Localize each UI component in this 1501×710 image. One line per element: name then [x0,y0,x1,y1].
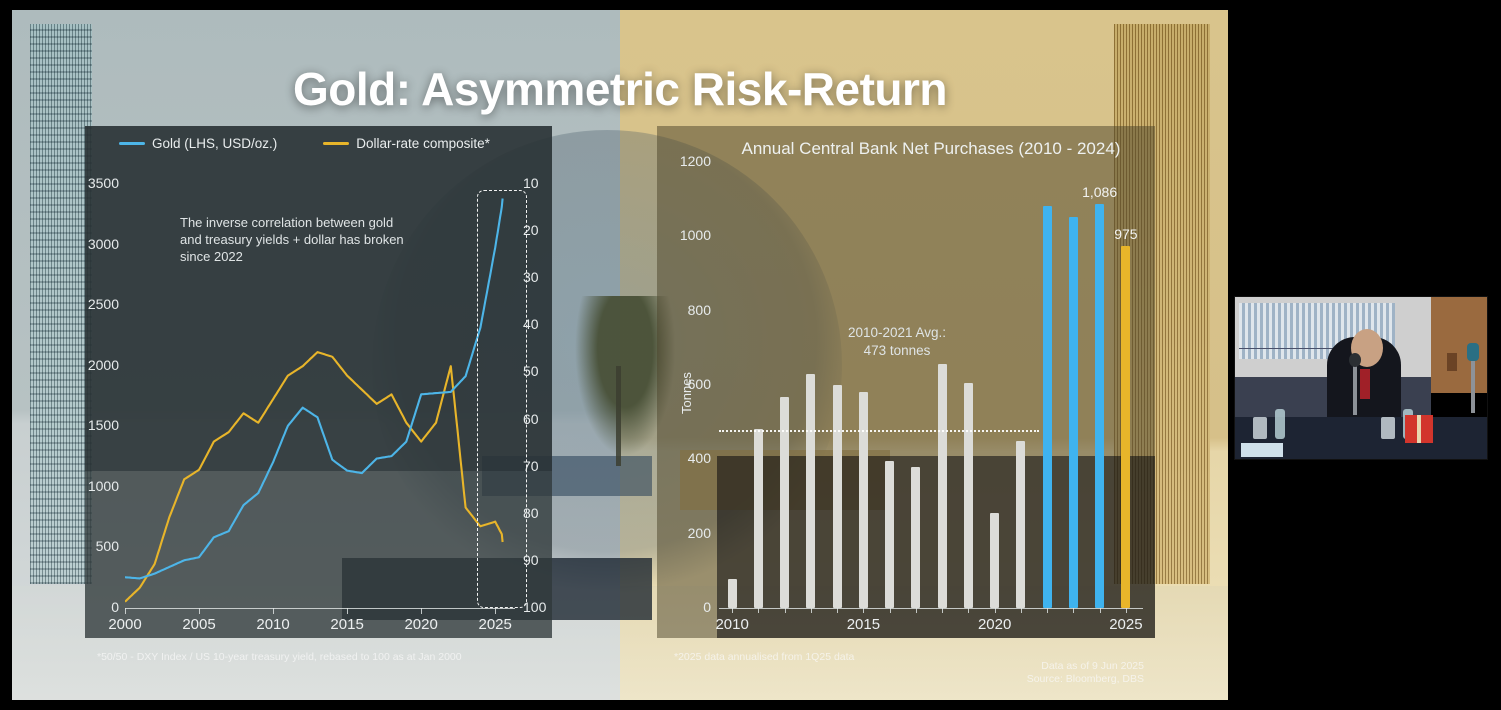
bar-2016[interactable] [885,461,894,608]
line-chart-svg [125,184,510,608]
y2-tick-50: 50 [523,363,551,379]
bar-y-tick-600: 600 [663,376,711,392]
legend-item-dollar: Dollar-rate composite* [323,136,490,151]
bar-x-tick-mark-2013 [811,608,812,613]
presentation-slide: Gold: Asymmetric Risk-Return Gold (LHS, … [12,10,1228,700]
microphone-icon [1353,363,1357,415]
bar-x-tick-mark-2016 [890,608,891,613]
avg-annotation-line2: 473 tonnes [817,342,977,360]
water-bottle-left [1275,409,1285,439]
x-tick-2020: 2020 [391,616,451,633]
bar-chart-x-axis [719,608,1143,609]
webcam-door-handle [1447,353,1457,371]
line-chart-legend: Gold (LHS, USD/oz.) Dollar-rate composit… [119,136,490,151]
y-tick-3500: 3500 [85,175,119,191]
bar-x-tick-mark-2017 [916,608,917,613]
bar-2023[interactable] [1069,217,1078,608]
bar-x-tick-mark-2024 [1100,608,1101,613]
bar-chart-panel: Annual Central Bank Net Purchases (2010 … [657,126,1155,638]
line-chart-plot-area [125,184,510,608]
x-tick-mark-2000 [125,608,126,614]
bar-x-tick-mark-2015 [863,608,864,613]
bar-2024[interactable] [1095,204,1104,608]
red-gift-box [1405,415,1433,443]
legend-label-gold: Gold (LHS, USD/oz.) [152,136,277,151]
bar-x-tick-mark-2012 [785,608,786,613]
legend-swatch-gold [119,142,145,145]
presenter-tie [1360,369,1370,399]
bar-x-tick-2025: 2025 [1096,616,1156,633]
y2-tick-10: 10 [523,175,551,191]
bar-x-tick-2010: 2010 [702,616,762,633]
x-tick-mark-2020 [421,608,422,614]
bar-x-tick-mark-2018 [942,608,943,613]
slide-title: Gold: Asymmetric Risk-Return [12,62,1228,116]
bar-y-tick-800: 800 [663,302,711,318]
bar-2014[interactable] [833,385,842,608]
source-date: Data as of 9 Jun 2025 [1024,660,1144,673]
x-tick-2025: 2025 [465,616,525,633]
y2-tick-40: 40 [523,316,551,332]
line-chart-x-axis [125,608,515,609]
bar-x-tick-mark-2010 [732,608,733,613]
y-tick-3000: 3000 [85,236,119,252]
bar-x-tick-mark-2014 [837,608,838,613]
bar-y-tick-1000: 1000 [663,227,711,243]
bar-x-tick-mark-2021 [1021,608,1022,613]
legend-swatch-dollar [323,142,349,145]
bar-2010[interactable] [728,579,737,608]
source-name: Source: Bloomberg, DBS [1024,673,1144,686]
bar-2015[interactable] [859,392,868,608]
average-reference-line [719,430,1039,432]
bar-2019[interactable] [964,383,973,608]
presenter-video-tile[interactable] [1234,296,1488,460]
water-glass-right [1381,417,1395,439]
water-glass-left [1253,417,1267,439]
x-tick-2005: 2005 [169,616,229,633]
bar-x-tick-2015: 2015 [833,616,893,633]
bar-chart-avg-annotation: 2010-2021 Avg.: 473 tonnes [817,324,977,360]
y2-tick-20: 20 [523,222,551,238]
y-tick-500: 500 [85,538,119,554]
bar-2020[interactable] [990,513,999,608]
y-tick-1000: 1000 [85,478,119,494]
y-tick-2000: 2000 [85,357,119,373]
bar-x-tick-mark-2011 [758,608,759,613]
screen-share-window: Gold: Asymmetric Risk-Return Gold (LHS, … [0,0,1501,710]
bar-value-label-2024: 1,086 [1066,184,1134,200]
microphone-stand-right [1471,357,1475,413]
x-tick-mark-2005 [199,608,200,614]
y2-tick-30: 30 [523,269,551,285]
bar-2025[interactable] [1121,246,1130,608]
bar-x-tick-mark-2022 [1047,608,1048,613]
y2-tick-100: 100 [523,599,551,615]
y-tick-0: 0 [85,599,119,615]
bar-y-tick-1200: 1200 [663,153,711,169]
bar-x-tick-mark-2019 [968,608,969,613]
footnote-right: *2025 data annualised from 1Q25 data [674,651,854,663]
bar-2013[interactable] [806,374,815,608]
bar-2022[interactable] [1043,206,1052,608]
y2-tick-60: 60 [523,411,551,427]
bar-y-tick-0: 0 [663,599,711,615]
bar-2012[interactable] [780,397,789,608]
bar-x-tick-mark-2020 [995,608,996,613]
paper-on-table [1241,443,1283,457]
bar-chart-title: Annual Central Bank Net Purchases (2010 … [721,138,1141,160]
bar-y-tick-200: 200 [663,525,711,541]
bar-2021[interactable] [1016,441,1025,608]
footnote-left: *50/50 - DXY Index / US 10-year treasury… [97,651,462,663]
avg-annotation-line1: 2010-2021 Avg.: [817,324,977,342]
x-tick-mark-2015 [347,608,348,614]
x-tick-2015: 2015 [317,616,377,633]
bar-2018[interactable] [938,364,947,608]
bar-x-tick-mark-2023 [1073,608,1074,613]
bar-chart-plot-area: 1,086975 [719,162,1139,608]
y-tick-1500: 1500 [85,417,119,433]
x-tick-2010: 2010 [243,616,303,633]
y-tick-2500: 2500 [85,296,119,312]
bar-2011[interactable] [754,429,763,608]
legend-label-dollar: Dollar-rate composite* [356,136,490,151]
bar-y-tick-400: 400 [663,450,711,466]
bar-x-tick-mark-2025 [1126,608,1127,613]
legend-item-gold: Gold (LHS, USD/oz.) [119,136,277,151]
bar-value-label-2025: 975 [1092,226,1160,242]
y2-tick-90: 90 [523,552,551,568]
y2-tick-70: 70 [523,458,551,474]
x-tick-2000: 2000 [95,616,155,633]
x-tick-mark-2025 [495,608,496,614]
divergence-highlight-box[interactable] [477,190,527,608]
x-tick-mark-2010 [273,608,274,614]
bar-2017[interactable] [911,467,920,608]
line-chart-panel: Gold (LHS, USD/oz.) Dollar-rate composit… [85,126,552,638]
source-attribution: Data as of 9 Jun 2025 Source: Bloomberg,… [1024,660,1144,686]
bar-x-tick-2020: 2020 [965,616,1025,633]
y2-tick-80: 80 [523,505,551,521]
